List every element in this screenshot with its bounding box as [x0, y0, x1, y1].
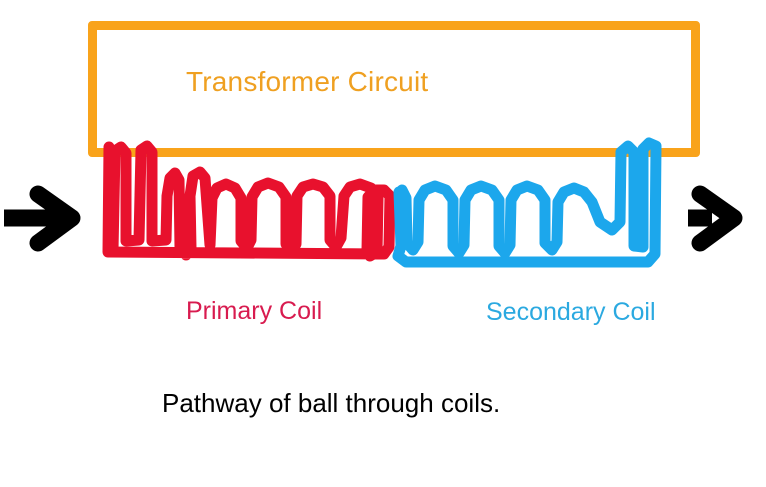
arrow-right-icon — [688, 194, 734, 243]
diagram-canvas: Transformer Circuit Primary Coil Seconda… — [0, 0, 766, 487]
primary-coil-label: Primary Coil — [186, 297, 322, 326]
primary-coil-path — [108, 146, 390, 256]
diagram-caption: Pathway of ball through coils. — [162, 388, 500, 419]
secondary-coil-label: Secondary Coil — [486, 298, 656, 327]
secondary-coil-path — [398, 143, 656, 262]
transformer-circuit-title: Transformer Circuit — [186, 66, 428, 98]
arrow-right-icon — [4, 194, 72, 243]
